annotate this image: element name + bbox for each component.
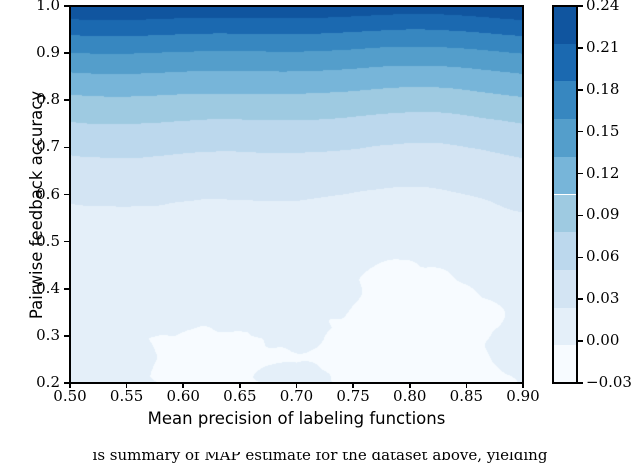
colorbar-tick: [577, 89, 583, 91]
x-tick-label: 0.85: [436, 389, 496, 404]
colorbar-tick: [577, 173, 583, 175]
colorbar-tick-label: 0.15: [586, 124, 619, 139]
x-tick-label: 0.60: [153, 389, 213, 404]
colorbar-tick: [577, 298, 583, 300]
y-tick-label: 0.2: [4, 375, 60, 390]
y-axis-label: Pairwise feedback accuracy: [27, 40, 46, 370]
colorbar-segment: [553, 44, 577, 82]
colorbar-tick-label: 0.12: [586, 166, 619, 181]
colorbar-segment: [553, 81, 577, 119]
y-tick: [64, 382, 69, 384]
x-tick-label: 0.90: [493, 389, 553, 404]
x-axis-label: Mean precision of labeling functions: [70, 409, 523, 428]
y-tick: [64, 194, 69, 196]
y-tick: [64, 52, 69, 54]
y-tick: [64, 99, 69, 101]
colorbar-frame-top: [552, 5, 578, 7]
x-tick-label: 0.70: [267, 389, 327, 404]
colorbar-segment: [553, 308, 577, 346]
plot-area: [70, 6, 523, 383]
y-tick: [64, 288, 69, 290]
colorbar-segment: [553, 270, 577, 308]
colorbar-frame-bottom: [552, 382, 578, 384]
colorbar-segment: [553, 232, 577, 270]
colorbar-frame-left: [552, 5, 554, 384]
colorbar-tick: [577, 257, 583, 259]
figure-caption-clipped: is summary of MAP estimate for the datas…: [0, 452, 640, 469]
y-tick: [64, 241, 69, 243]
colorbar-tick-label: −0.03: [586, 375, 632, 390]
colorbar-tick: [577, 340, 583, 342]
colorbar-tick-label: 0.06: [586, 249, 619, 264]
colorbar-tick: [577, 47, 583, 49]
x-tick-label: 0.75: [323, 389, 383, 404]
axis-spine-right: [522, 5, 524, 384]
colorbar-tick-label: 0.18: [586, 82, 619, 97]
y-axis-label-wrapper: Pairwise feedback accuracy: [27, 40, 49, 370]
colorbar-tick-label: 0.03: [586, 291, 619, 306]
colorbar-tick: [577, 131, 583, 133]
y-tick: [64, 335, 69, 337]
colorbar-tick-label: 0.00: [586, 333, 619, 348]
x-tick-label: 0.65: [210, 389, 270, 404]
colorbar-tick-label: 0.09: [586, 207, 619, 222]
axis-spine-top: [69, 5, 524, 7]
x-tick-label: 0.55: [97, 389, 157, 404]
colorbar-frame-right: [576, 5, 578, 384]
colorbar-tick: [577, 5, 583, 7]
y-tick: [64, 147, 69, 149]
contour-figure: 0.500.550.600.650.700.750.800.850.90 0.2…: [0, 0, 640, 469]
y-tick-label: 1.0: [4, 0, 60, 13]
colorbar: [553, 6, 577, 383]
colorbar-segment: [553, 345, 577, 383]
axis-spine-left: [69, 5, 71, 384]
colorbar-gradient: [553, 6, 577, 383]
x-tick-label: 0.80: [380, 389, 440, 404]
colorbar-segment: [553, 119, 577, 157]
y-tick: [64, 5, 69, 7]
colorbar-tick-label: 0.24: [586, 0, 619, 13]
colorbar-segment: [553, 157, 577, 195]
contour-plot-canvas: [70, 6, 523, 383]
colorbar-tick: [577, 382, 583, 384]
colorbar-tick-label: 0.21: [586, 40, 619, 55]
colorbar-tick: [577, 215, 583, 217]
colorbar-segment: [553, 6, 577, 44]
colorbar-segment: [553, 195, 577, 233]
figure-caption-text: is summary of MAP estimate for the datas…: [0, 452, 640, 465]
x-tick-label: 0.50: [40, 389, 100, 404]
